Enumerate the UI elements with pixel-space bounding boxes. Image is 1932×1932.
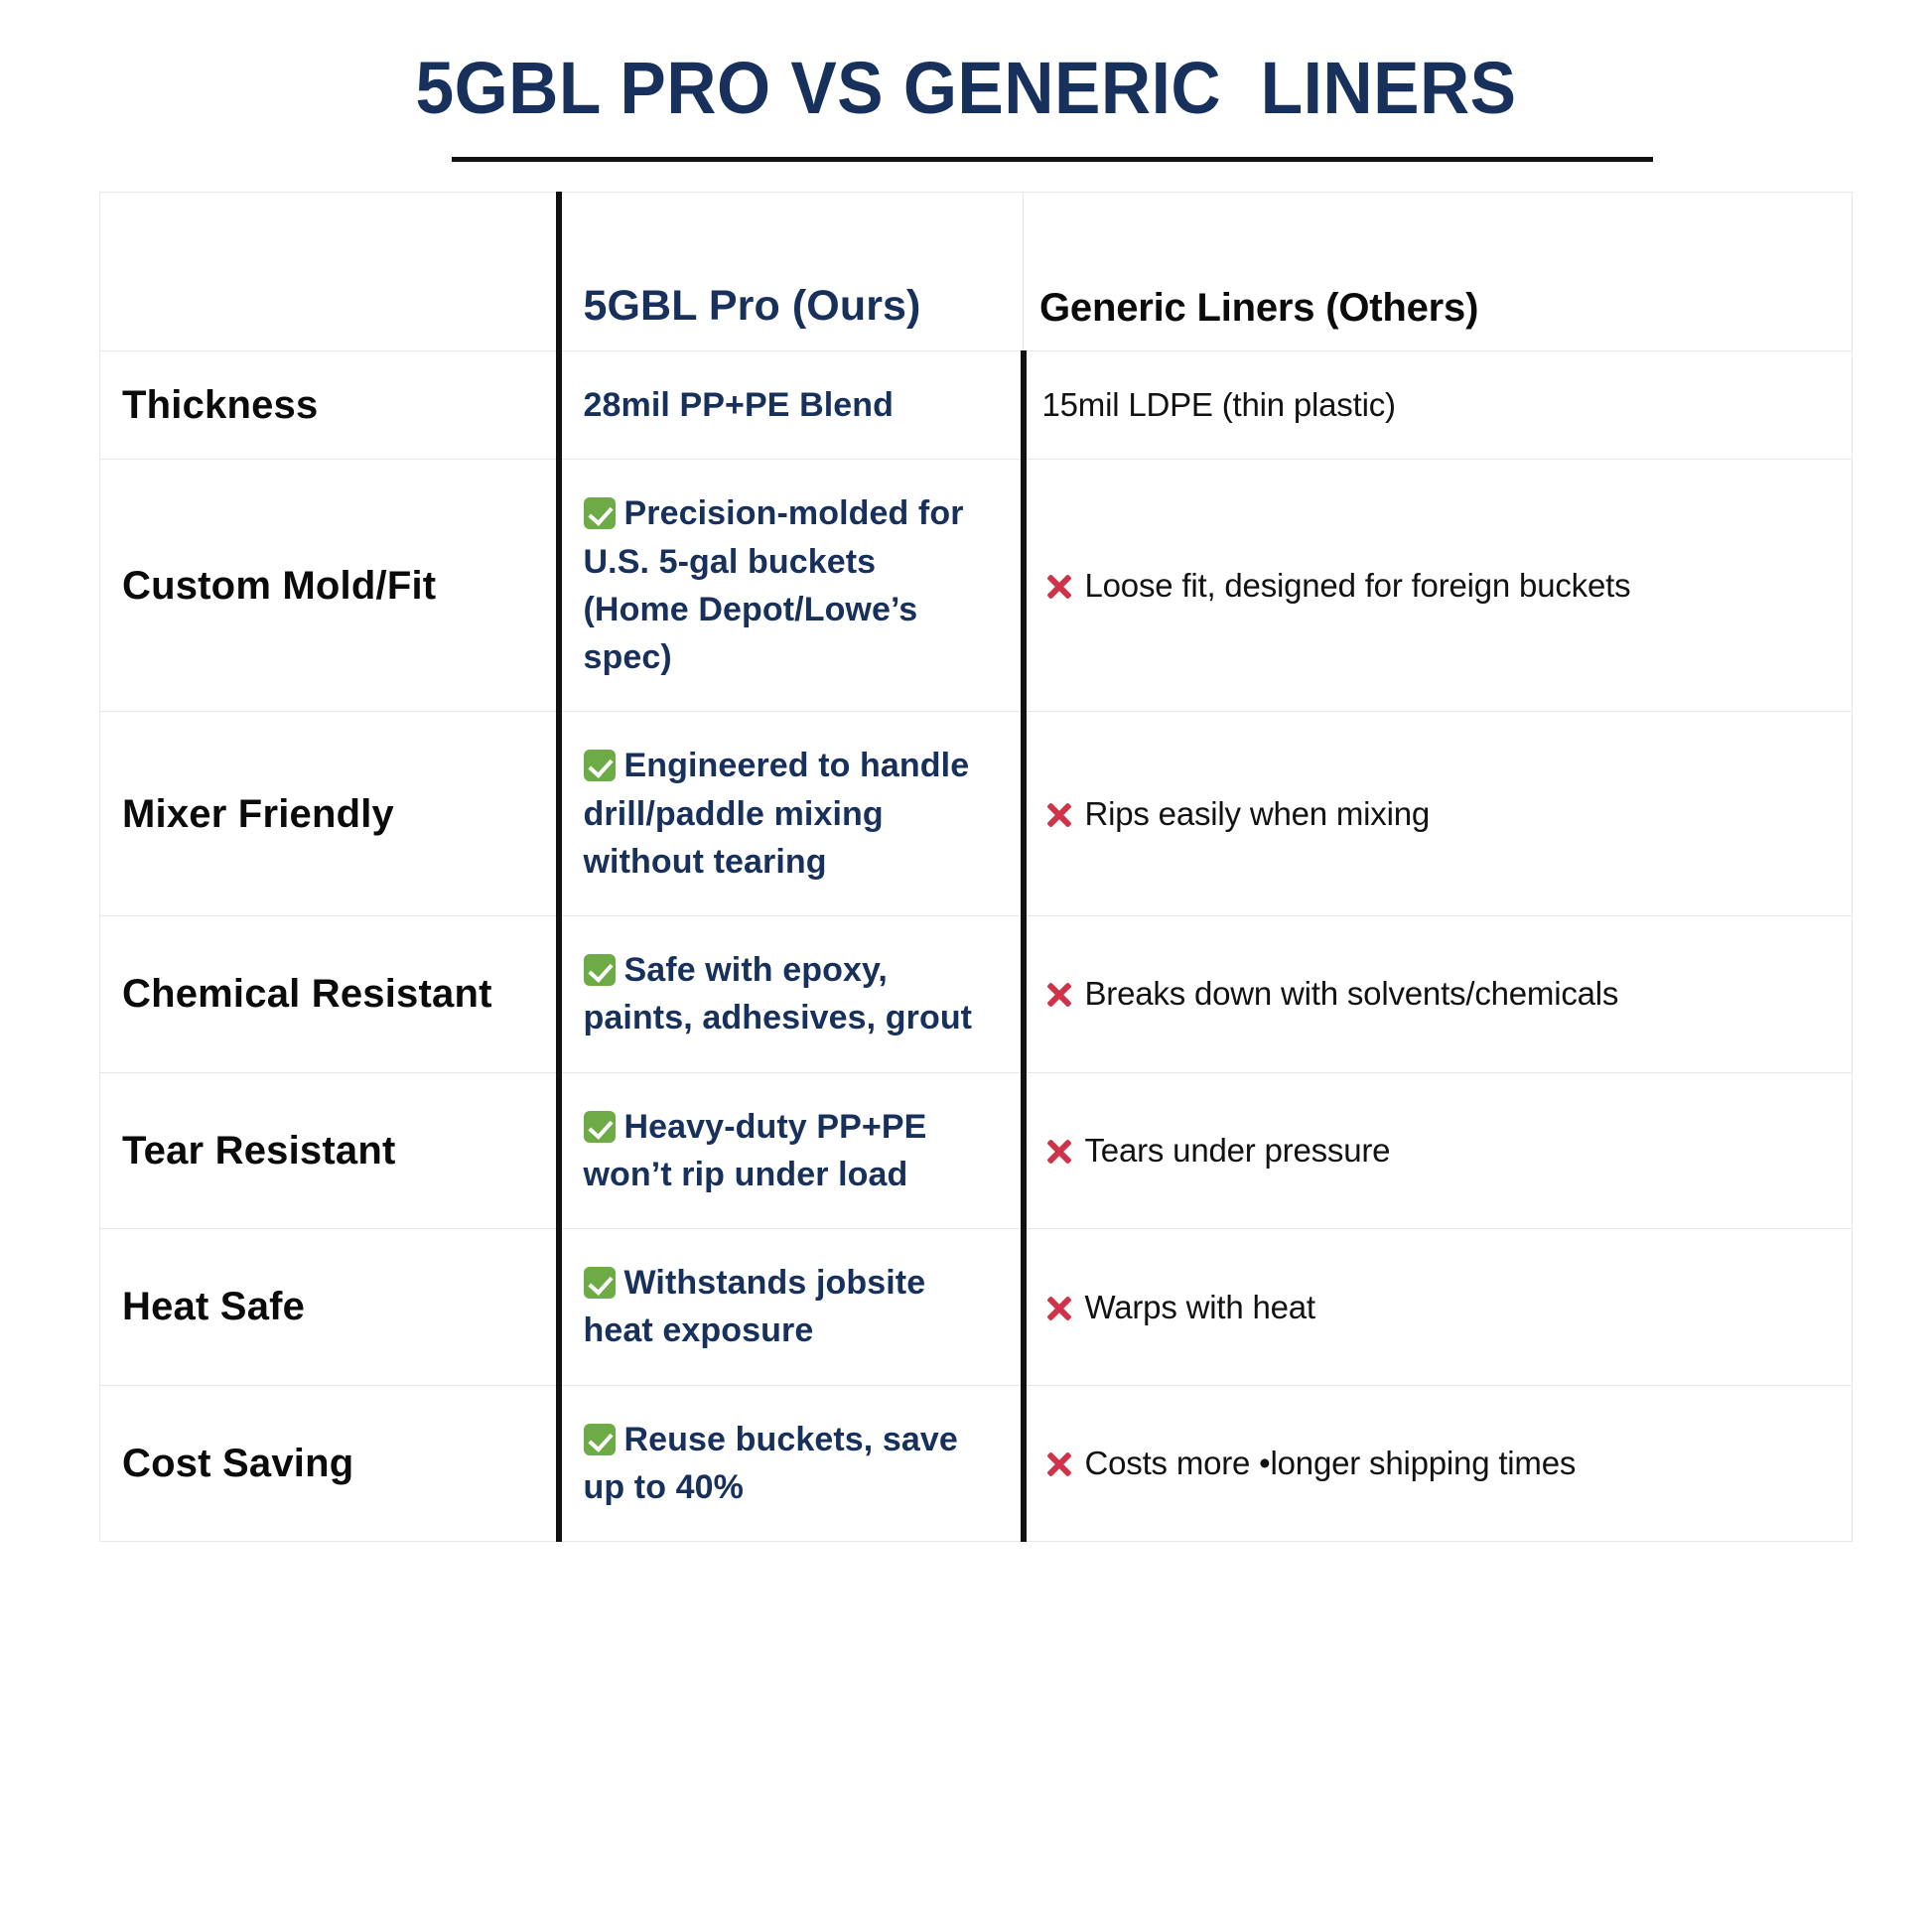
check-mark-icon [584, 750, 616, 781]
ours-text: Precision-molded for U.S. 5-gal buckets … [584, 494, 964, 676]
ours-value: Safe with epoxy, paints, adhesives, grou… [584, 946, 987, 1042]
cell-ours: Reuse buckets, save up to 40% [559, 1385, 1024, 1542]
cell-feature: Chemical Resistant [100, 916, 559, 1073]
header-cell-others: Generic Liners (Others) [1024, 193, 1853, 351]
header-cell-feature [100, 193, 559, 351]
cell-others: Tears under pressure [1024, 1072, 1853, 1229]
cell-ours: Precision-molded for U.S. 5-gal buckets … [559, 460, 1024, 712]
table-row: Custom Mold/FitPrecision-molded for U.S.… [100, 460, 1853, 712]
table-body: Thickness28mil PP+PE Blend15mil LDPE (th… [100, 351, 1853, 1542]
cell-feature: Cost Saving [100, 1385, 559, 1542]
cell-ours: Engineered to handle drill/paddle mixing… [559, 712, 1024, 916]
cross-mark-icon [1042, 1135, 1076, 1169]
cell-feature: Tear Resistant [100, 1072, 559, 1229]
header-cell-ours: 5GBL Pro (Ours) [559, 193, 1024, 351]
header-row: 5GBL Pro (Ours) Generic Liners (Others) [100, 193, 1853, 351]
table-row: Heat SafeWithstands jobsite heat exposur… [100, 1229, 1853, 1386]
cross-mark-icon [1042, 978, 1076, 1012]
cell-others: Rips easily when mixing [1024, 712, 1853, 916]
feature-label: Chemical Resistant [122, 971, 542, 1017]
table-row: Thickness28mil PP+PE Blend15mil LDPE (th… [100, 351, 1853, 460]
others-value: Rips easily when mixing [1042, 790, 1813, 838]
others-text: Costs more •longer shipping times [1085, 1445, 1577, 1481]
cell-others: Loose fit, designed for foreign buckets [1024, 460, 1853, 712]
others-value: Warps with heat [1042, 1284, 1813, 1331]
ours-text: Heavy-duty PP+PE won’t rip under load [584, 1108, 927, 1193]
others-text: Warps with heat [1085, 1289, 1315, 1325]
others-value: 15mil LDPE (thin plastic) [1042, 381, 1813, 429]
title-block: 5GBL PRO VS GENERIC LINERS [0, 48, 1932, 128]
ours-value: Withstands jobsite heat exposure [584, 1259, 987, 1355]
check-mark-icon [584, 1111, 616, 1143]
others-value: Tears under pressure [1042, 1127, 1813, 1174]
ours-text: Withstands jobsite heat exposure [584, 1264, 926, 1349]
cell-feature: Custom Mold/Fit [100, 460, 559, 712]
ours-text: Safe with epoxy, paints, adhesives, grou… [584, 951, 973, 1036]
feature-label: Thickness [122, 382, 542, 428]
cell-feature: Heat Safe [100, 1229, 559, 1386]
feature-label: Mixer Friendly [122, 791, 542, 837]
cell-others: Costs more •longer shipping times [1024, 1385, 1853, 1542]
header-others-label: Generic Liners (Others) [1039, 286, 1478, 330]
others-text: Breaks down with solvents/chemicals [1085, 975, 1619, 1012]
ours-value: Engineered to handle drill/paddle mixing… [584, 742, 987, 886]
others-text: Rips easily when mixing [1085, 795, 1431, 832]
page-title: 5GBL PRO VS GENERIC LINERS [58, 48, 1873, 128]
others-value: Breaks down with solvents/chemicals [1042, 970, 1813, 1018]
feature-label: Heat Safe [122, 1284, 542, 1329]
ours-value: Heavy-duty PP+PE won’t rip under load [584, 1103, 987, 1199]
cross-mark-icon [1042, 1448, 1076, 1481]
cross-mark-icon [1042, 1292, 1076, 1325]
ours-value: Reuse buckets, save up to 40% [584, 1416, 987, 1512]
table-row: Chemical ResistantSafe with epoxy, paint… [100, 916, 1853, 1073]
check-mark-icon [584, 954, 616, 986]
cell-ours: Heavy-duty PP+PE won’t rip under load [559, 1072, 1024, 1229]
cross-mark-icon [1042, 798, 1076, 832]
cell-feature: Thickness [100, 351, 559, 460]
others-text: 15mil LDPE (thin plastic) [1042, 386, 1396, 423]
ours-text: 28mil PP+PE Blend [584, 386, 895, 424]
check-mark-icon [584, 1424, 616, 1455]
cell-others: Warps with heat [1024, 1229, 1853, 1386]
ours-value: Precision-molded for U.S. 5-gal buckets … [584, 489, 987, 681]
header-ours-label: 5GBL Pro (Ours) [584, 282, 921, 330]
ours-text: Reuse buckets, save up to 40% [584, 1421, 958, 1506]
comparison-table: 5GBL Pro (Ours) Generic Liners (Others) … [99, 192, 1853, 1542]
table-header: 5GBL Pro (Ours) Generic Liners (Others) [100, 193, 1853, 351]
cell-others: Breaks down with solvents/chemicals [1024, 916, 1853, 1073]
comparison-infographic: 5GBL PRO VS GENERIC LINERS 5GBL Pro (Our… [0, 0, 1932, 1932]
cell-feature: Mixer Friendly [100, 712, 559, 916]
ours-text: Engineered to handle drill/paddle mixing… [584, 747, 970, 881]
feature-label: Custom Mold/Fit [122, 563, 542, 609]
cell-ours: Withstands jobsite heat exposure [559, 1229, 1024, 1386]
feature-label: Cost Saving [122, 1441, 542, 1486]
others-text: Tears under pressure [1085, 1132, 1391, 1169]
feature-label: Tear Resistant [122, 1128, 542, 1173]
others-text: Loose fit, designed for foreign buckets [1085, 567, 1631, 604]
cell-others: 15mil LDPE (thin plastic) [1024, 351, 1853, 460]
table-row: Cost SavingReuse buckets, save up to 40%… [100, 1385, 1853, 1542]
others-value: Costs more •longer shipping times [1042, 1440, 1813, 1487]
others-value: Loose fit, designed for foreign buckets [1042, 562, 1813, 610]
check-mark-icon [584, 497, 616, 529]
cell-ours: Safe with epoxy, paints, adhesives, grou… [559, 916, 1024, 1073]
table-row: Tear ResistantHeavy-duty PP+PE won’t rip… [100, 1072, 1853, 1229]
table-row: Mixer FriendlyEngineered to handle drill… [100, 712, 1853, 916]
check-mark-icon [584, 1267, 616, 1299]
ours-value: 28mil PP+PE Blend [584, 381, 987, 429]
cell-ours: 28mil PP+PE Blend [559, 351, 1024, 460]
cross-mark-icon [1042, 570, 1076, 604]
title-divider-rule [452, 157, 1653, 162]
